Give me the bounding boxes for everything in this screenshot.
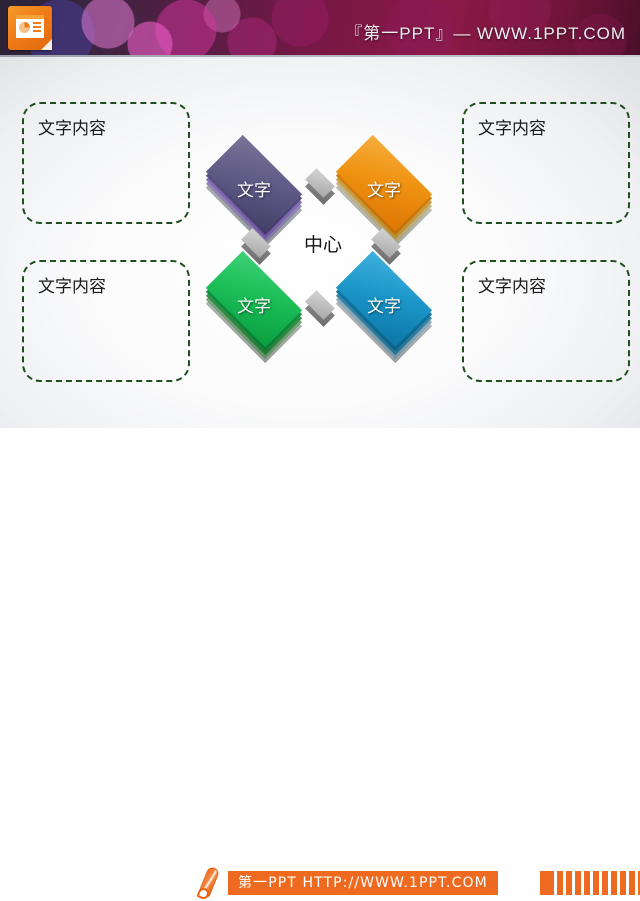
footer-bar <box>540 871 554 895</box>
logo-text-line <box>33 26 41 28</box>
page-footer: 第一PPT HTTP://WWW.1PPT.COM <box>0 428 640 480</box>
logo-text-line <box>33 30 41 32</box>
textbox-top-left-label: 文字内容 <box>38 114 106 139</box>
connector-cube-bottom <box>307 292 341 326</box>
diamond-stack <box>212 257 296 341</box>
diamond-stack <box>342 257 426 341</box>
diamond-stack <box>212 141 296 225</box>
footer-banner: 第一PPT HTTP://WWW.1PPT.COM <box>228 871 498 895</box>
footer-bar-decoration <box>540 871 640 895</box>
diamond-node-top-right[interactable]: 文字 <box>325 124 443 242</box>
diamond-node-top-left[interactable]: 文字 <box>195 124 313 242</box>
page-header: 『第一PPT』— WWW.1PPT.COM <box>0 0 640 57</box>
textbox-top-right-label: 文字内容 <box>478 114 546 139</box>
textbox-top-right[interactable]: 文字内容 <box>462 102 630 224</box>
footer-bar <box>629 871 635 895</box>
footer-bar <box>557 871 563 895</box>
textbox-top-left[interactable]: 文字内容 <box>22 102 190 224</box>
powerpoint-logo-icon <box>8 6 52 50</box>
textbox-bottom-left[interactable]: 文字内容 <box>22 260 190 382</box>
pencil-icon <box>196 866 222 900</box>
footer-bar <box>575 871 581 895</box>
header-title: 『第一PPT』— WWW.1PPT.COM <box>345 19 626 44</box>
logo-document-titlebar <box>16 15 44 19</box>
textbox-bottom-right[interactable]: 文字内容 <box>462 260 630 382</box>
textbox-bottom-left-label: 文字内容 <box>38 272 106 297</box>
connector-cube-top <box>307 170 341 204</box>
footer-bar <box>611 871 617 895</box>
diamond-stack <box>342 141 426 225</box>
diagram-3d-diamonds: 文字 文字 <box>185 112 460 362</box>
footer-bar <box>566 871 572 895</box>
slide-page: 『第一PPT』— WWW.1PPT.COM 文字内容 文字内容 文字内容 文字内… <box>0 0 640 480</box>
logo-text-line <box>33 22 41 24</box>
footer-bar <box>602 871 608 895</box>
center-label: 中心 <box>275 230 371 257</box>
pie-chart-icon <box>19 22 30 33</box>
logo-document <box>16 15 44 38</box>
footer-bar <box>584 871 590 895</box>
footer-bar <box>620 871 626 895</box>
slide-body: 文字内容 文字内容 文字内容 文字内容 <box>0 57 640 428</box>
textbox-bottom-right-label: 文字内容 <box>478 272 546 297</box>
footer-bar <box>593 871 599 895</box>
logo-page-fold <box>41 39 52 50</box>
